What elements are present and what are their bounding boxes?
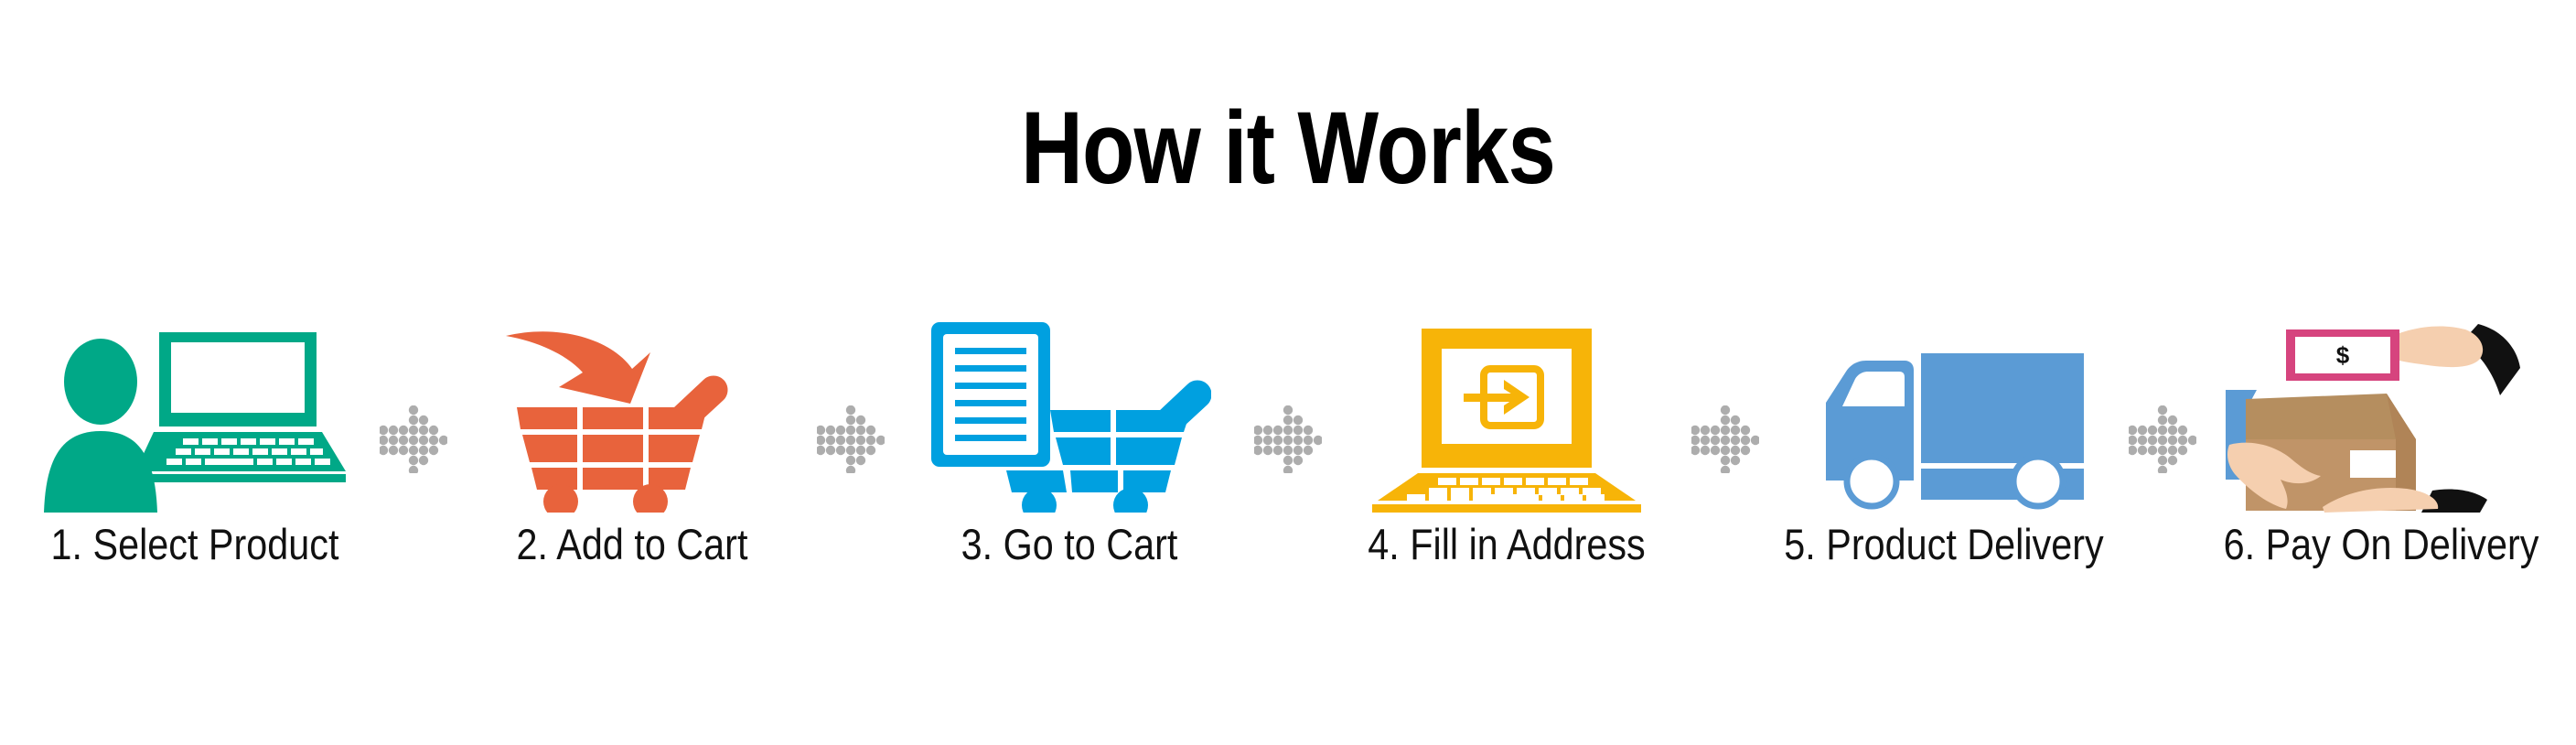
cash-on-delivery-icon: $ xyxy=(2196,302,2566,513)
dotted-arrow-right-icon xyxy=(817,403,885,476)
step-4-fill-in-address[interactable]: 4. Fill in Address xyxy=(1322,302,1691,613)
cart-with-incoming-arrow-icon xyxy=(447,302,817,513)
dotted-arrow-right-icon xyxy=(1254,403,1322,476)
delivery-truck-icon xyxy=(1759,302,2129,513)
step-5-label: 5. Product Delivery xyxy=(1781,520,2107,569)
step-3-go-to-cart[interactable]: 3. Go to Cart xyxy=(885,302,1254,613)
dotted-arrow-right-icon xyxy=(2129,403,2196,476)
step-2-label: 2. Add to Cart xyxy=(469,520,795,569)
laptop-with-login-arrow-icon xyxy=(1322,302,1691,513)
step-6-label: 6. Pay On Delivery xyxy=(2218,520,2544,569)
step-2-add-to-cart[interactable]: 2. Add to Cart xyxy=(447,302,817,613)
step-1-select-product[interactable]: 1. Select Product xyxy=(10,302,380,613)
banknote-dollar-symbol: $ xyxy=(2336,341,2350,369)
dotted-arrow-right-icon xyxy=(1691,403,1759,476)
separator-3 xyxy=(1254,302,1322,613)
document-and-cart-icon xyxy=(885,302,1254,513)
step-5-product-delivery[interactable]: 5. Product Delivery xyxy=(1759,302,2129,613)
separator-4 xyxy=(1691,302,1759,613)
banknote: $ xyxy=(2286,329,2399,381)
person-at-laptop-icon xyxy=(10,302,380,513)
step-4-label: 4. Fill in Address xyxy=(1344,520,1669,569)
how-it-works-page: How it Works xyxy=(0,0,2576,745)
separator-1 xyxy=(380,302,447,613)
dotted-arrow-right-icon xyxy=(380,403,447,476)
step-6-pay-on-delivery[interactable]: $ 6. Pay On D xyxy=(2196,302,2566,613)
steps-row: 1. Select Product xyxy=(0,302,2576,613)
step-3-label: 3. Go to Cart xyxy=(907,520,1232,569)
shipping-label xyxy=(2350,450,2396,478)
step-1-label: 1. Select Product xyxy=(32,520,358,569)
separator-2 xyxy=(817,302,885,613)
separator-5 xyxy=(2129,302,2196,613)
page-title: How it Works xyxy=(206,97,2369,200)
